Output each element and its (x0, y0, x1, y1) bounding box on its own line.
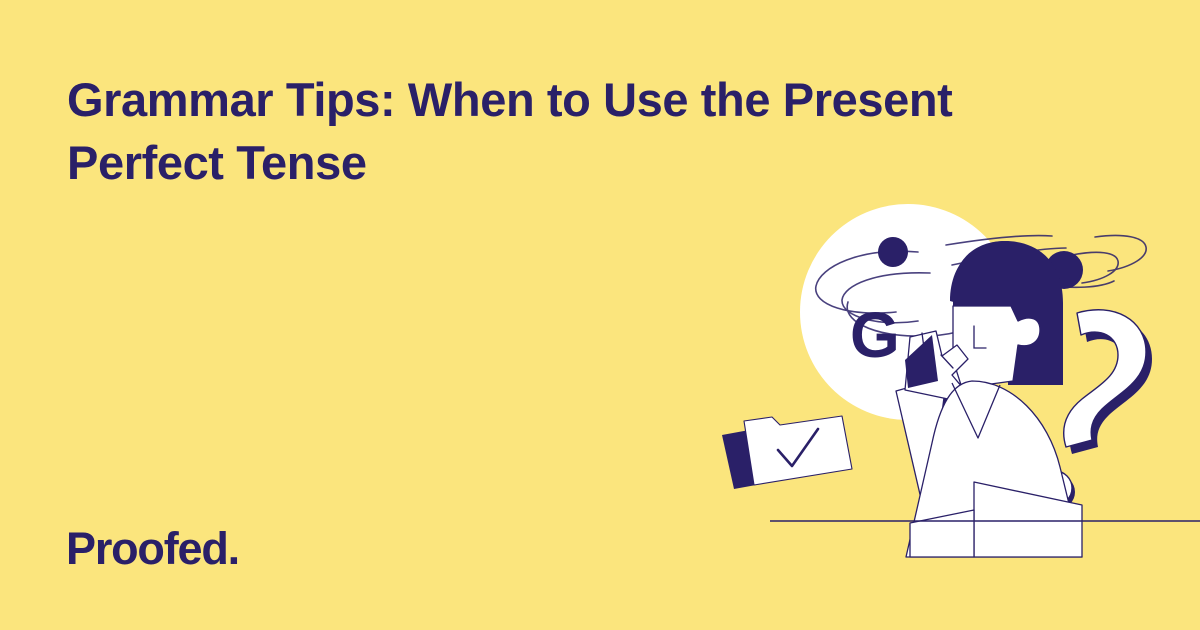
illustration-canvas: G (700, 185, 1200, 630)
page-title: Grammar Tips: When to Use the Present Pe… (67, 68, 1007, 194)
orbit-dot-left (878, 237, 908, 267)
letter-g-glyph: G (850, 299, 900, 371)
folder-body (744, 416, 852, 485)
social-share-banner: Grammar Tips: When to Use the Present Pe… (0, 0, 1200, 630)
proofed-logo[interactable]: Proofed. (66, 524, 239, 574)
folder-with-checkmark (722, 416, 852, 489)
hero-illustration: G (700, 185, 1200, 630)
